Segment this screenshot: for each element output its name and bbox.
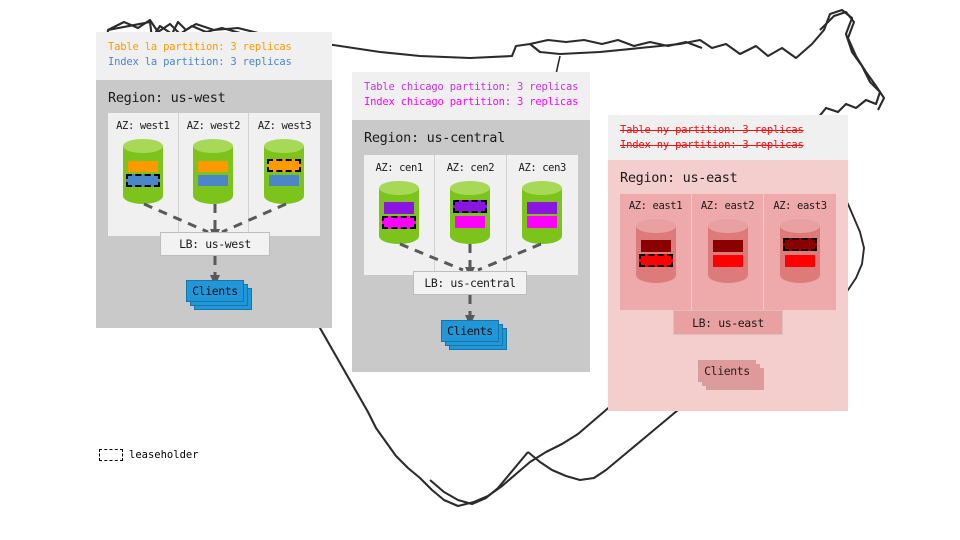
lb-box-us-central[interactable]: LB: us-central xyxy=(413,271,527,295)
node-cylinder-east1 xyxy=(636,219,676,283)
band-table-replica-east2 xyxy=(713,240,743,252)
az-label-east2: AZ: east2 xyxy=(701,200,754,212)
leaseholder-legend-label: leaseholder xyxy=(129,449,199,461)
diagram-canvas: Table la partition: 3 replicas Index la … xyxy=(0,0,960,540)
legend-box-us-east: Table ny partition: 3 replicas Index ny … xyxy=(608,115,848,160)
lb-box-us-east[interactable]: LB: us-east xyxy=(673,310,783,335)
az-cell-east1: AZ: east1 xyxy=(620,194,692,310)
az-row-us-east: AZ: east1 AZ: east2 AZ: east3 xyxy=(620,194,836,310)
az-cell-east3: AZ: east3 xyxy=(764,194,836,310)
leaseholder-legend-key: leaseholder xyxy=(99,449,199,461)
node-cylinder-east2 xyxy=(708,219,748,283)
legend-line-table-ny: Table ny partition: 3 replicas xyxy=(620,123,836,138)
band-table-replica-east1 xyxy=(641,240,671,252)
dashed-box-icon xyxy=(99,449,123,461)
clients-group-us-east[interactable]: Clients xyxy=(698,360,766,390)
node-cylinder-east3 xyxy=(780,219,820,283)
band-index-replica-east2 xyxy=(713,255,743,267)
az-cell-east2: AZ: east2 xyxy=(692,194,764,310)
legend-line-index-ny: Index ny partition: 3 replicas xyxy=(620,138,836,153)
band-table-replica-east3-leaseholder xyxy=(783,238,817,251)
clients-group-us-central[interactable]: Clients xyxy=(441,320,509,350)
clients-label-us-east[interactable]: Clients xyxy=(698,360,756,382)
clients-label-us-central[interactable]: Clients xyxy=(441,320,499,342)
band-index-replica-east1-leaseholder xyxy=(639,254,673,267)
az-label-east1: AZ: east1 xyxy=(629,200,682,212)
region-title-us-east: Region: us-east xyxy=(620,170,737,186)
band-index-replica-east3 xyxy=(785,255,815,267)
az-label-east3: AZ: east3 xyxy=(773,200,826,212)
